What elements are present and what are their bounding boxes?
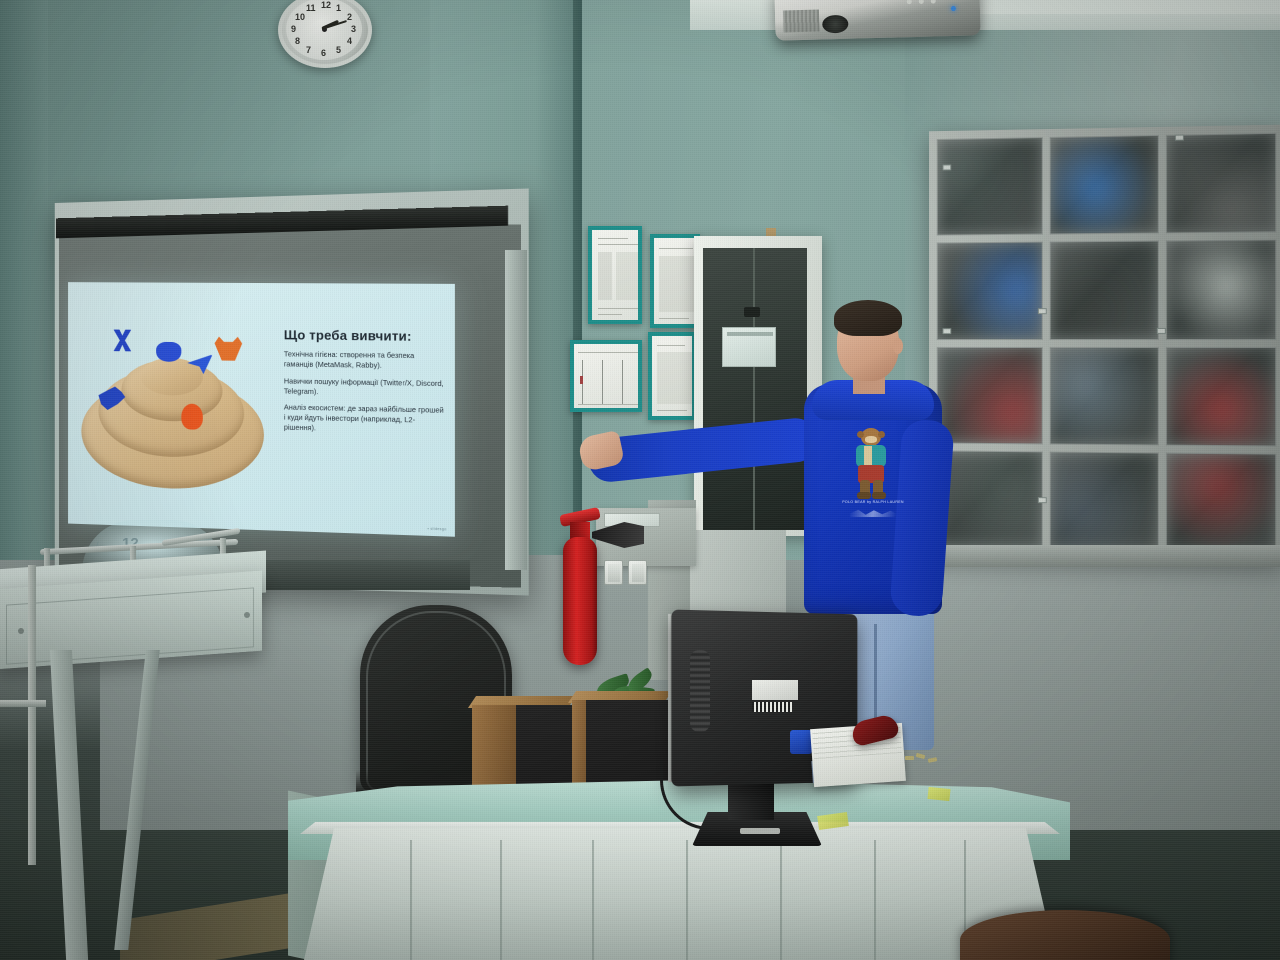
cabinet-glass-reflection (1051, 242, 1158, 339)
clock-numeral: 10 (295, 12, 305, 22)
discord-logo-icon (156, 342, 181, 362)
cabinet-glass-reflection (938, 138, 1042, 235)
cabinet-glass-pane[interactable] (1166, 133, 1277, 234)
projected-slide: Що треба вивчити: Технічна гігієна: ство… (68, 282, 455, 537)
presenter-hair (834, 300, 902, 336)
clock-numeral: 4 (347, 36, 352, 46)
monitor-blue-plug (790, 730, 812, 754)
cabinet-glass-pane[interactable] (1166, 240, 1277, 340)
sticky-note-yellow-2[interactable] (927, 787, 950, 801)
clock-numeral: 6 (321, 48, 326, 58)
ceiling-projector (774, 0, 980, 41)
desk-slat (874, 840, 876, 960)
cabinet-glass-reflection (1051, 347, 1158, 444)
slide-bullet-3: Аналіз екосистем: де зараз найбільше гро… (284, 403, 447, 436)
cabinet-glass-pane[interactable] (1166, 452, 1277, 553)
projector-lens (822, 15, 848, 34)
desk-slat (410, 840, 412, 960)
projector-led-power (951, 6, 956, 11)
cabinet-glass-pane[interactable] (1166, 347, 1277, 447)
cabinet-glass-reflection (1051, 136, 1158, 234)
projector-vent (783, 10, 820, 33)
cabinet-glass-reflection (1167, 453, 1276, 552)
metamask-fox-icon (215, 337, 243, 361)
cabinet-glass-reflection (1167, 134, 1276, 233)
projector-led-3 (931, 0, 936, 4)
cabinet-glass-pane[interactable] (937, 137, 1043, 236)
glass-front-storage-cabinet[interactable] (929, 125, 1280, 562)
reddit-alien-icon (181, 404, 202, 430)
slide-title: Що треба вивчити: (284, 327, 447, 344)
clock-numeral: 1 (336, 3, 341, 13)
whiteboard-bottom-trim (255, 560, 470, 590)
clock-numeral: 11 (306, 3, 316, 13)
desk-slat (780, 840, 782, 960)
projector-led-1 (907, 0, 912, 4)
left-railing-horizontal (0, 700, 46, 707)
slide-illustration-wooden-target (78, 323, 268, 500)
desk-slat (592, 840, 594, 960)
podium-rail-post-1 (44, 548, 50, 566)
slide-watermark: • slidesgo (428, 527, 447, 532)
desk-slat (686, 840, 688, 960)
podium-knob-left[interactable] (18, 628, 24, 634)
cabinet-glass-pane[interactable] (1050, 346, 1159, 445)
clock-numeral: 8 (295, 36, 300, 46)
polo-bear-graphic (848, 428, 894, 500)
slide-bullet-2: Навички пошуку інформації (Twitter/X, Di… (284, 376, 447, 399)
cabinet-glass-pane[interactable] (1050, 241, 1159, 340)
clock-numeral: 2 (347, 12, 352, 22)
cabinet-glass-pane[interactable] (1050, 135, 1159, 235)
cabinet-glass-reflection (1167, 241, 1276, 339)
whiteboard-right-edge (505, 250, 527, 570)
left-railing-vertical (28, 565, 36, 865)
desk-slat (500, 840, 502, 960)
x-logo-icon (112, 330, 133, 352)
cabinet-glass-pane[interactable] (1050, 451, 1159, 551)
keys[interactable] (905, 752, 945, 764)
projector-led-2 (919, 0, 924, 4)
slide-bullet-1: Технічна гігієна: створення та безпека г… (284, 349, 447, 371)
clock-numeral: 9 (291, 24, 296, 34)
desk-front-panel (304, 828, 1056, 960)
clock-numeral: 7 (306, 45, 311, 55)
clock-numeral: 12 (321, 0, 331, 10)
cabinet-glass-reflection (1167, 348, 1276, 446)
monitor-barcode-sticker (752, 702, 792, 712)
clock-numeral: 3 (351, 24, 356, 34)
podium-knob-right[interactable] (244, 612, 250, 618)
monitor-vent (690, 650, 710, 732)
presenter-ear (893, 338, 903, 354)
cabinet-glass-reflection (1051, 452, 1158, 550)
monitor-base-highlight (740, 828, 780, 834)
hoodie-brand-text: POLO BEAR by RALPH LAUREN (832, 500, 914, 504)
clock-numeral: 5 (336, 45, 341, 55)
classroom-photo-scene: 121234567891011 (0, 0, 1280, 960)
monitor-label-sticker (752, 680, 798, 700)
wall-clock: 121234567891011 (278, 0, 374, 70)
